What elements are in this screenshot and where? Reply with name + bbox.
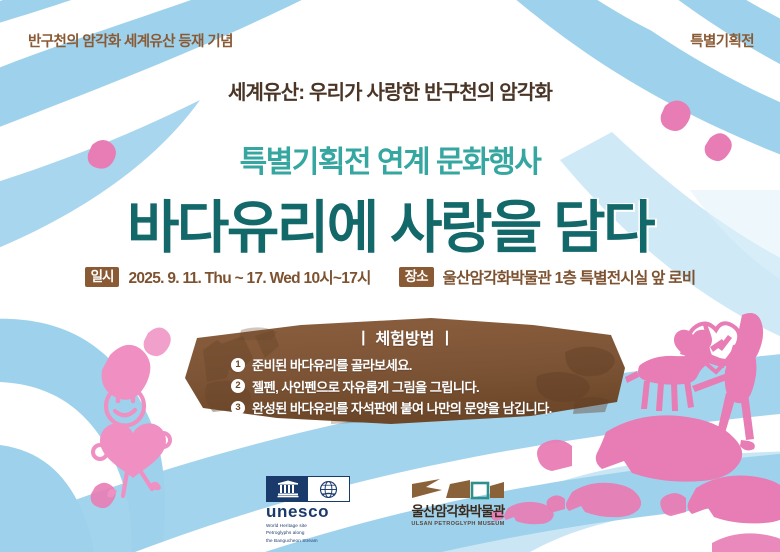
step-number: 1 bbox=[231, 358, 245, 372]
unesco-sub-line: Petroglyphs along bbox=[266, 529, 358, 536]
unesco-temple-icon bbox=[267, 477, 308, 501]
unesco-emblem-box bbox=[266, 476, 350, 502]
unesco-sub-line: World Heritage site bbox=[266, 522, 358, 529]
date-badge: 일시 bbox=[85, 267, 120, 288]
step-text: 젤펜, 사인펜으로 자유롭게 그림을 그립니다. bbox=[252, 377, 479, 396]
step-number: 3 bbox=[231, 401, 245, 415]
museum-logo: 울산암각화박물관 ULSAN PETROGLYPH MUSEUM bbox=[402, 476, 514, 527]
heading-bar-left: ㅣ bbox=[351, 331, 376, 348]
list-item: 1 준비된 바다유리를 골라보세요. bbox=[187, 355, 629, 374]
heading-text: 체험방법 bbox=[376, 331, 435, 348]
museum-name-en: ULSAN PETROGLYPH MUSEUM bbox=[402, 521, 514, 527]
eyebrow-left-text: 반구천의 암각화 세계유산 등재 기념 bbox=[28, 30, 233, 51]
date-value: 2025. 9. 11. Thu ~ 17. Wed 10시~17시 bbox=[128, 266, 370, 288]
list-item: 2 젤펜, 사인펜으로 자유롭게 그림을 그립니다. bbox=[187, 377, 629, 396]
poster-content: 반구천의 암각화 세계유산 등재 기념 특별기획전 세계유산: 우리가 사랑한 … bbox=[0, 0, 780, 552]
instruction-content: ㅣ체험방법ㅣ 1 준비된 바다유리를 골라보세요. 2 젤펜, 사인펜으로 자유… bbox=[181, 316, 629, 428]
footer-logos: unesco World Heritage site Petroglyphs a… bbox=[0, 476, 780, 544]
museum-name-ko: 울산암각화박물관 bbox=[402, 505, 514, 520]
instruction-step-list: 1 준비된 바다유리를 골라보세요. 2 젤펜, 사인펜으로 자유롭게 그림을 … bbox=[181, 355, 629, 420]
unesco-logo: unesco World Heritage site Petroglyphs a… bbox=[266, 476, 358, 544]
heading-bar-right: ㅣ bbox=[434, 331, 459, 348]
exhibit-title: 세계유산: 우리가 사랑한 반구천의 암각화 bbox=[0, 76, 780, 105]
instruction-heading: ㅣ체험방법ㅣ bbox=[351, 325, 459, 349]
unesco-globe-icon bbox=[308, 477, 349, 501]
info-bar: 일시 2025. 9. 11. Thu ~ 17. Wed 10시~17시 장소… bbox=[0, 266, 780, 288]
step-number: 2 bbox=[231, 379, 245, 393]
step-text: 준비된 바다유리를 골라보세요. bbox=[252, 355, 412, 374]
list-item: 3 완성된 바다유리를 자석판에 붙여 나만의 문양을 남깁니다. bbox=[187, 398, 629, 417]
eyebrow-right-text: 특별기획전 bbox=[690, 30, 754, 51]
unesco-sub-line: the Bangucheon Stream bbox=[266, 537, 358, 544]
step-text: 완성된 바다유리를 자석판에 붙여 나만의 문양을 남깁니다. bbox=[252, 398, 552, 417]
museum-mark-icon bbox=[402, 476, 514, 503]
unesco-wordmark: unesco bbox=[266, 503, 358, 521]
headline-subtitle: 특별기획전 연계 문화행사 bbox=[0, 137, 780, 181]
unesco-subtitle: World Heritage site Petroglyphs along th… bbox=[266, 522, 358, 543]
poster-canvas: 반구천의 암각화 세계유산 등재 기념 특별기획전 세계유산: 우리가 사랑한 … bbox=[0, 0, 780, 552]
place-value: 울산암각화박물관 1층 특별전시실 앞 로비 bbox=[443, 266, 696, 288]
place-badge: 장소 bbox=[399, 267, 434, 288]
instruction-rock-panel: ㅣ체험방법ㅣ 1 준비된 바다유리를 골라보세요. 2 젤펜, 사인펜으로 자유… bbox=[181, 316, 629, 428]
headline-main-title: 바다유리에 사랑을 담다 bbox=[0, 182, 780, 264]
